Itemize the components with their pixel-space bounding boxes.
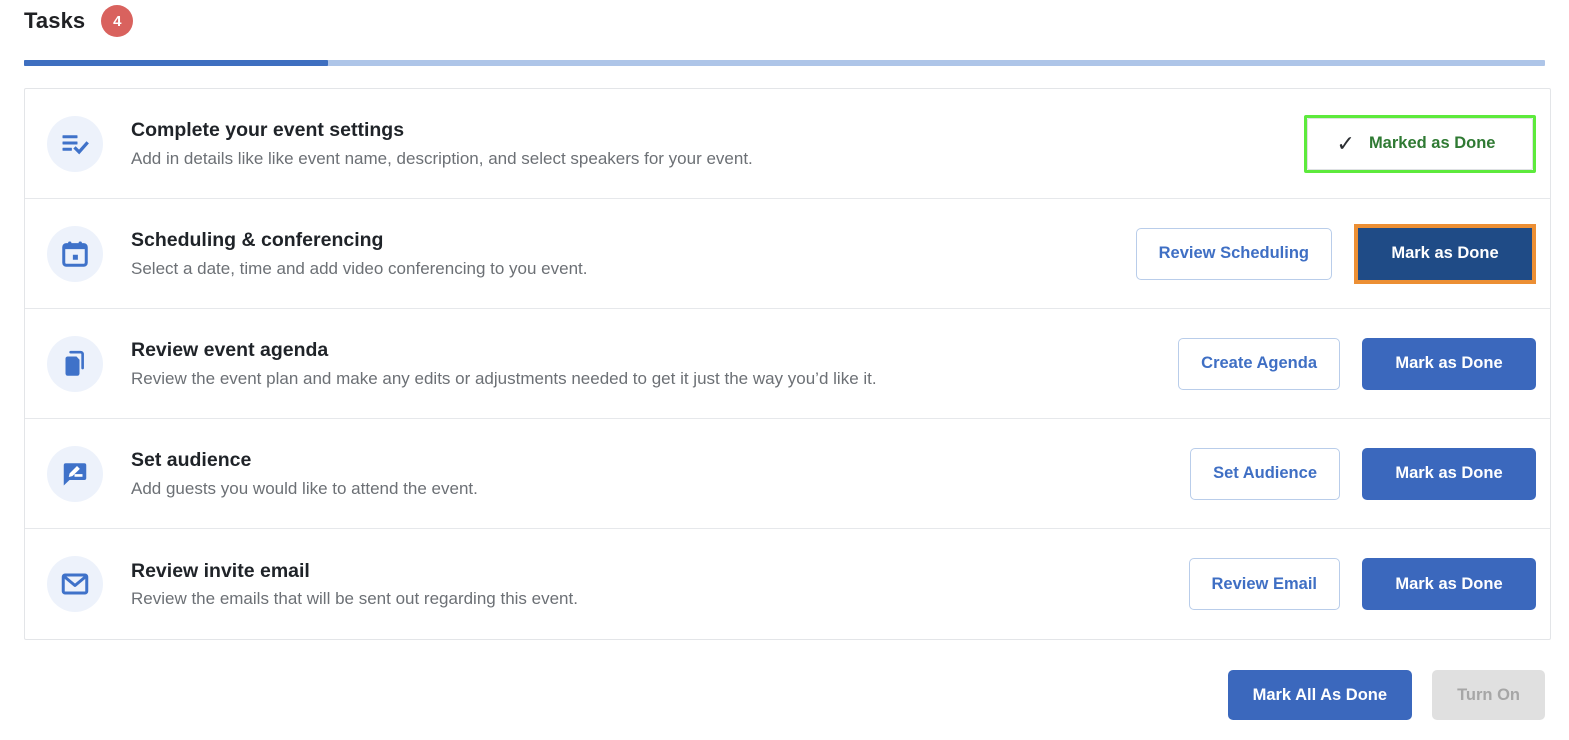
marked-as-done-highlight: ✓ Marked as Done [1304,115,1536,173]
task-description: Review the event plan and make any edits… [131,368,1178,390]
task-text: Scheduling & conferencing Select a date,… [131,227,1136,279]
task-title: Review event agenda [131,337,1178,363]
marked-as-done-label: Marked as Done [1369,134,1496,153]
marked-as-done-button[interactable]: ✓ Marked as Done [1307,118,1533,170]
task-title: Scheduling & conferencing [131,227,1136,253]
mark-all-as-done-button[interactable]: Mark All As Done [1228,670,1412,720]
mark-as-done-button[interactable]: Mark as Done [1362,558,1536,610]
task-description: Add in details like like event name, des… [131,148,1304,170]
task-row: Set audience Add guests you would like t… [25,419,1550,529]
task-description: Select a date, time and add video confer… [131,258,1136,280]
check-icon: ✓ [1337,133,1355,155]
task-description: Review the emails that will be sent out … [131,588,1189,610]
task-actions: Create Agenda Mark as Done [1178,338,1536,390]
task-row: Review invite email Review the emails th… [25,529,1550,639]
copy-pages-icon [47,336,103,392]
tasks-count-badge: 4 [101,5,133,37]
task-row: Complete your event settings Add in deta… [25,89,1550,199]
speech-bubble-edit-icon [47,446,103,502]
task-text: Set audience Add guests you would like t… [131,447,1190,499]
task-actions: Review Email Mark as Done [1189,558,1536,610]
task-list-card: Complete your event settings Add in deta… [24,88,1551,640]
task-actions: Review Scheduling Mark as Done [1136,224,1536,284]
calendar-icon [47,226,103,282]
task-title: Set audience [131,447,1190,473]
task-actions: Set Audience Mark as Done [1190,448,1536,500]
task-title: Review invite email [131,558,1189,584]
turn-on-button: Turn On [1432,670,1545,720]
tasks-header: Tasks 4 [24,2,133,40]
envelope-icon [47,556,103,612]
tasks-progress-bar [24,60,1545,66]
review-email-button[interactable]: Review Email [1189,558,1340,610]
checklist-icon [47,116,103,172]
task-row: Review event agenda Review the event pla… [25,309,1550,419]
task-title: Complete your event settings [131,117,1304,143]
mark-as-done-focus-highlight: Mark as Done [1354,224,1536,284]
task-text: Complete your event settings Add in deta… [131,117,1304,169]
task-row: Scheduling & conferencing Select a date,… [25,199,1550,309]
page-title: Tasks [24,8,85,34]
task-actions: ✓ Marked as Done [1304,115,1536,173]
mark-as-done-button[interactable]: Mark as Done [1358,228,1532,280]
mark-as-done-button[interactable]: Mark as Done [1362,448,1536,500]
tasks-progress-fill [24,60,328,66]
task-text: Review event agenda Review the event pla… [131,337,1178,389]
task-description: Add guests you would like to attend the … [131,478,1190,500]
mark-as-done-button[interactable]: Mark as Done [1362,338,1536,390]
create-agenda-button[interactable]: Create Agenda [1178,338,1340,390]
task-text: Review invite email Review the emails th… [131,558,1189,610]
review-scheduling-button[interactable]: Review Scheduling [1136,228,1332,280]
footer-actions: Mark All As Done Turn On [1228,670,1545,720]
set-audience-button[interactable]: Set Audience [1190,448,1340,500]
